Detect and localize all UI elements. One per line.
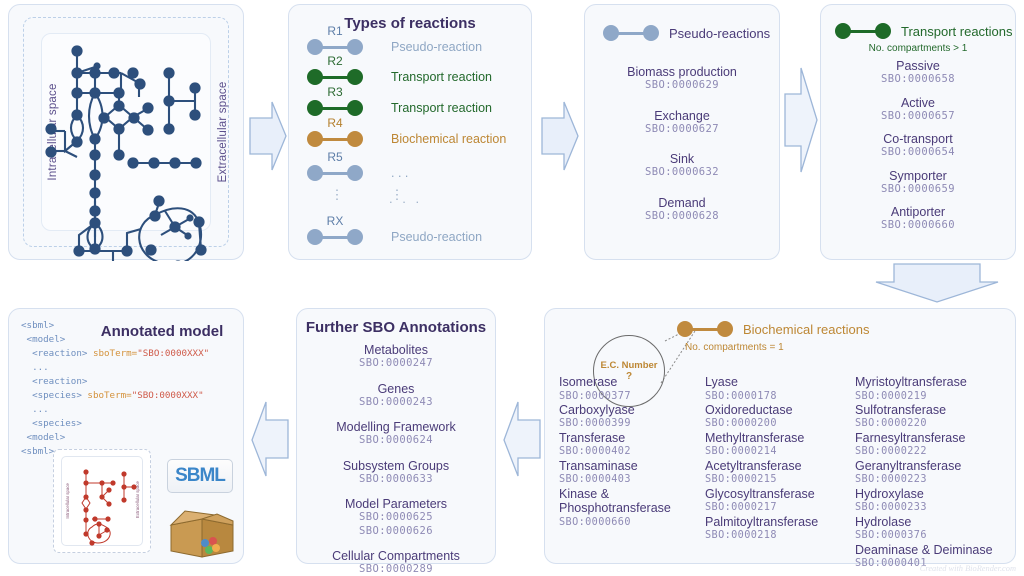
further-sbo-item: GenesSBO:0000243 bbox=[297, 382, 495, 410]
pseudo-reaction-sbo: SBO:0000628 bbox=[585, 210, 779, 223]
panel-types-of-reactions: Types of reactions R1Pseudo-reactionR2Tr… bbox=[288, 4, 532, 260]
biochemical-name: Kinase &Phosphotransferase bbox=[559, 487, 671, 516]
arrow-pseudo-to-transport bbox=[783, 64, 819, 176]
reaction-id-label: R5 bbox=[327, 150, 342, 164]
biochemical-item: IsomeraseSBO:0000377 bbox=[559, 375, 671, 403]
reaction-id-label: R2 bbox=[327, 54, 342, 68]
biochemical-subheader: No. compartments = 1 bbox=[685, 342, 784, 353]
biochemical-sbo: SBO:0000200 bbox=[705, 417, 818, 430]
biochemical-item: CarboxylyaseSBO:0000399 bbox=[559, 403, 671, 431]
pseudo-reaction-item: SinkSBO:0000632 bbox=[585, 152, 779, 180]
sbml-logo: SBML bbox=[167, 459, 233, 493]
pseudo-reaction-sbo: SBO:0000629 bbox=[585, 79, 779, 92]
biorender-credit: Created with BioRender.com bbox=[920, 564, 1016, 573]
transport-reaction-item: Co-transportSBO:0000654 bbox=[821, 132, 1015, 160]
pseudo-reaction-sbo: SBO:0000627 bbox=[585, 123, 779, 136]
biochemical-sbo: SBO:0000660 bbox=[559, 516, 671, 529]
biochemical-name: Palmitoyltransferase bbox=[705, 515, 818, 530]
transport-subheader: No. compartments > 1 bbox=[821, 43, 1015, 54]
panel-further-sbo: Further SBO Annotations MetabolitesSBO:0… bbox=[296, 308, 496, 564]
biochemical-name: Sulfotransferase bbox=[855, 403, 993, 418]
transport-reaction-sbo: SBO:0000660 bbox=[821, 219, 1015, 232]
biochemical-item: LyaseSBO:0000178 bbox=[705, 375, 818, 403]
biochemical-sbo: SBO:0000233 bbox=[855, 501, 993, 514]
transport-header-label: Transport reactions bbox=[901, 24, 1013, 39]
diagram-canvas: Intracellular space Extracellular space bbox=[0, 0, 1024, 576]
biochemical-sbo: SBO:0000214 bbox=[705, 445, 818, 458]
biochemical-sbo: SBO:0000217 bbox=[705, 501, 818, 514]
transport-reaction-name: Active bbox=[821, 96, 1015, 110]
transport-reaction-sbo: SBO:0000659 bbox=[821, 183, 1015, 196]
package-box-icon bbox=[167, 505, 237, 561]
biochemical-item: HydrolaseSBO:0000376 bbox=[855, 515, 993, 543]
biochemical-sbo: SBO:0000399 bbox=[559, 417, 671, 430]
types-title: Types of reactions bbox=[289, 15, 531, 32]
biochemical-name: Isomerase bbox=[559, 375, 671, 390]
biochemical-name: Acetyltransferase bbox=[705, 459, 818, 474]
pseudo-reaction-item: Biomass productionSBO:0000629 bbox=[585, 65, 779, 93]
further-sbo-code: SBO:0000243 bbox=[297, 396, 495, 409]
further-sbo-item: MetabolitesSBO:0000247 bbox=[297, 343, 495, 371]
biochemical-name: Glycosyltransferase bbox=[705, 487, 818, 502]
biochemical-name: Carboxylyase bbox=[559, 403, 671, 418]
pseudo-items: Biomass productionSBO:0000629ExchangeSBO… bbox=[585, 65, 779, 239]
biochemical-sbo: SBO:0000403 bbox=[559, 473, 671, 486]
biochemical-item: HydroxylaseSBO:0000233 bbox=[855, 487, 993, 515]
further-sbo-title: Further SBO Annotations bbox=[297, 319, 495, 336]
pseudo-edge-icon bbox=[603, 23, 659, 43]
mini-network-inner: Intracellular space Extracellular space bbox=[61, 456, 143, 546]
reaction-row-rx: RXPseudo-reaction bbox=[307, 227, 482, 247]
further-sbo-item: Modelling FrameworkSBO:0000624 bbox=[297, 420, 495, 448]
biochemical-sbo: SBO:0000215 bbox=[705, 473, 818, 486]
further-sbo-name: Modelling Framework bbox=[297, 420, 495, 434]
biochemical-item: MyristoyltransferaseSBO:0000219 bbox=[855, 375, 993, 403]
reaction-edge-icon-r5: R5 bbox=[307, 163, 363, 183]
sbml-logo-text: SBML bbox=[175, 465, 225, 487]
further-sbo-items: MetabolitesSBO:0000247GenesSBO:0000243Mo… bbox=[297, 343, 495, 576]
transport-reaction-item: PassiveSBO:0000658 bbox=[821, 59, 1015, 87]
biochemical-item: MethyltransferaseSBO:0000214 bbox=[705, 431, 818, 459]
transport-items: PassiveSBO:0000658ActiveSBO:0000657Co-tr… bbox=[821, 59, 1015, 242]
biochemical-name: Methyltransferase bbox=[705, 431, 818, 446]
biochemical-name: Geranyltransferase bbox=[855, 459, 993, 474]
biochemical-item: Kinase &PhosphotransferaseSBO:0000660 bbox=[559, 487, 671, 529]
panel-pseudo-reactions: Pseudo-reactions Biomass productionSBO:0… bbox=[584, 4, 780, 260]
further-sbo-name: Genes bbox=[297, 382, 495, 396]
ellipsis-vertical-right: ⋮ bbox=[389, 193, 405, 197]
reaction-type-label: Pseudo-reaction bbox=[391, 230, 482, 244]
mini-network-graph bbox=[62, 457, 146, 549]
biochemical-name: Oxidoreductase bbox=[705, 403, 818, 418]
reaction-type-label: Pseudo-reaction bbox=[391, 40, 482, 54]
panel-metabolic-network: Intracellular space Extracellular space bbox=[8, 4, 244, 260]
reaction-row-r3: R3Transport reaction bbox=[307, 98, 492, 118]
reaction-row-r4: R4Biochemical reaction bbox=[307, 129, 506, 149]
biochemical-name: Transaminase bbox=[559, 459, 671, 474]
biochemical-item: GlycosyltransferaseSBO:0000217 bbox=[705, 487, 818, 515]
reaction-id-label: RX bbox=[327, 214, 344, 228]
further-sbo-name: Cellular Compartments bbox=[297, 549, 495, 563]
pseudo-reaction-name: Exchange bbox=[585, 109, 779, 123]
ec-number-label: E.C. Number bbox=[600, 360, 657, 371]
further-sbo-name: Model Parameters bbox=[297, 497, 495, 511]
biochemical-sbo: SBO:0000220 bbox=[855, 417, 993, 430]
panel-transport-reactions: Transport reactions No. compartments > 1… bbox=[820, 4, 1016, 260]
biochemical-item: FarnesyltransferaseSBO:0000222 bbox=[855, 431, 993, 459]
further-sbo-item: Model ParametersSBO:0000625SBO:0000626 bbox=[297, 497, 495, 538]
biochemical-edge-icon bbox=[677, 319, 733, 339]
biochemical-sbo: SBO:0000219 bbox=[855, 390, 993, 403]
biochemical-item: PalmitoyltransferaseSBO:0000218 bbox=[705, 515, 818, 543]
biochemical-item: SulfotransferaseSBO:0000220 bbox=[855, 403, 993, 431]
biochemical-item: TransaminaseSBO:0000403 bbox=[559, 459, 671, 487]
biochemical-item: GeranyltransferaseSBO:0000223 bbox=[855, 459, 993, 487]
pseudo-header-label: Pseudo-reactions bbox=[669, 26, 770, 41]
biochemical-sbo: SBO:0000222 bbox=[855, 445, 993, 458]
panel-biochemical-reactions: E.C. Number ? Biochemical reactions No. … bbox=[544, 308, 1016, 564]
pseudo-reaction-sbo: SBO:0000632 bbox=[585, 166, 779, 179]
arrow-network-to-types bbox=[246, 96, 290, 176]
further-sbo-code: SBO:0000624 bbox=[297, 434, 495, 447]
further-sbo-code: SBO:0000625 bbox=[297, 511, 495, 524]
transport-reaction-name: Passive bbox=[821, 59, 1015, 73]
biochemical-item: AcetyltransferaseSBO:0000215 bbox=[705, 459, 818, 487]
biochemical-sbo: SBO:0000223 bbox=[855, 473, 993, 486]
further-sbo-name: Metabolites bbox=[297, 343, 495, 357]
further-sbo-code: SBO:0000633 bbox=[297, 473, 495, 486]
arrow-types-to-pseudo bbox=[538, 96, 582, 176]
further-sbo-code: SBO:0000247 bbox=[297, 357, 495, 370]
panel-annotated-model: Annotated model <sbml> <model> <reaction… bbox=[8, 308, 244, 564]
reaction-edge-icon-rx: RX bbox=[307, 227, 363, 247]
biochemical-name: Transferase bbox=[559, 431, 671, 446]
biochemical-header-row: Biochemical reactions bbox=[677, 319, 869, 339]
reaction-row-r5: R5. . . bbox=[307, 163, 408, 183]
biochemical-sbo: SBO:0000218 bbox=[705, 529, 818, 542]
biochemical-name: Myristoyltransferase bbox=[855, 375, 993, 390]
reaction-id-label: R1 bbox=[327, 24, 342, 38]
pseudo-reaction-item: DemandSBO:0000628 bbox=[585, 196, 779, 224]
biochemical-column-1: IsomeraseSBO:0000377CarboxylyaseSBO:0000… bbox=[559, 375, 671, 529]
sbml-code-block: <sbml> <model> <reaction> sboTerm="SBO:0… bbox=[21, 319, 209, 459]
transport-edge-icon bbox=[835, 21, 891, 41]
transport-reaction-name: Antiporter bbox=[821, 205, 1015, 219]
arrow-transport-to-biochemical bbox=[872, 262, 1002, 306]
reaction-edge-icon-r2: R2 bbox=[307, 67, 363, 87]
further-sbo-item: Cellular CompartmentsSBO:0000289 bbox=[297, 549, 495, 576]
ellipsis-vertical-left: ⋮ bbox=[329, 193, 345, 197]
further-sbo-code: SBO:0000289 bbox=[297, 563, 495, 576]
biochemical-item: TransferaseSBO:0000402 bbox=[559, 431, 671, 459]
further-sbo-name: Subsystem Groups bbox=[297, 459, 495, 473]
transport-reaction-item: SymporterSBO:0000659 bbox=[821, 169, 1015, 197]
reaction-id-label: R4 bbox=[327, 116, 342, 130]
reaction-type-label: Biochemical reaction bbox=[391, 132, 506, 146]
biochemical-name: Hydrolase bbox=[855, 515, 993, 530]
transport-reaction-item: ActiveSBO:0000657 bbox=[821, 96, 1015, 124]
pseudo-reaction-name: Biomass production bbox=[585, 65, 779, 79]
pseudo-reaction-name: Sink bbox=[585, 152, 779, 166]
reaction-edge-icon-r4: R4 bbox=[307, 129, 363, 149]
reaction-id-label: R3 bbox=[327, 85, 342, 99]
metabolic-network-graph bbox=[9, 5, 245, 261]
transport-reaction-name: Symporter bbox=[821, 169, 1015, 183]
biochemical-column-2: LyaseSBO:0000178OxidoreductaseSBO:000020… bbox=[705, 375, 818, 543]
biochemical-sbo: SBO:0000376 bbox=[855, 529, 993, 542]
transport-reaction-sbo: SBO:0000654 bbox=[821, 146, 1015, 159]
transport-reaction-item: AntiporterSBO:0000660 bbox=[821, 205, 1015, 233]
biochemical-name: Hydroxylase bbox=[855, 487, 993, 502]
mini-network-card: Intracellular space Extracellular space bbox=[53, 449, 151, 553]
pseudo-header-row: Pseudo-reactions bbox=[603, 23, 770, 43]
reaction-edge-icon-r3: R3 bbox=[307, 98, 363, 118]
pseudo-reaction-item: ExchangeSBO:0000627 bbox=[585, 109, 779, 137]
biochemical-name: Farnesyltransferase bbox=[855, 431, 993, 446]
transport-reaction-sbo: SBO:0000658 bbox=[821, 73, 1015, 86]
reaction-type-label: . . . bbox=[391, 166, 408, 180]
biochemical-sbo: SBO:0000377 bbox=[559, 390, 671, 403]
biochemical-sbo: SBO:0000402 bbox=[559, 445, 671, 458]
reaction-type-label: Transport reaction bbox=[391, 70, 492, 84]
transport-header-row: Transport reactions bbox=[835, 21, 1013, 41]
transport-reaction-name: Co-transport bbox=[821, 132, 1015, 146]
arrow-biochemical-to-further-sbo bbox=[500, 396, 544, 482]
biochemical-name: Deaminase & Deiminase bbox=[855, 543, 993, 558]
biochemical-column-3: MyristoyltransferaseSBO:0000219Sulfotran… bbox=[855, 375, 993, 571]
further-sbo-item: Subsystem GroupsSBO:0000633 bbox=[297, 459, 495, 487]
reaction-type-label: Transport reaction bbox=[391, 101, 492, 115]
reaction-row-r2: R2Transport reaction bbox=[307, 67, 492, 87]
further-sbo-code: SBO:0000626 bbox=[297, 525, 495, 538]
pseudo-reaction-name: Demand bbox=[585, 196, 779, 210]
biochemical-item: OxidoreductaseSBO:0000200 bbox=[705, 403, 818, 431]
biochemical-header-label: Biochemical reactions bbox=[743, 322, 869, 337]
arrow-further-sbo-to-model bbox=[248, 396, 292, 482]
biochemical-sbo: SBO:0000178 bbox=[705, 390, 818, 403]
transport-reaction-sbo: SBO:0000657 bbox=[821, 110, 1015, 123]
biochemical-name: Lyase bbox=[705, 375, 818, 390]
